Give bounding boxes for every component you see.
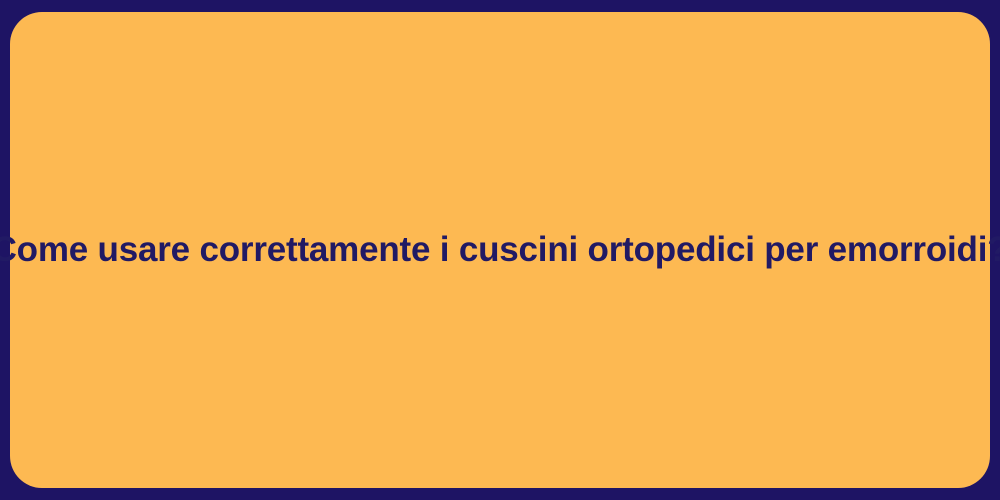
- page-title: Come usare correttamente i cuscini ortop…: [0, 229, 1000, 270]
- headline-card: Come usare correttamente i cuscini ortop…: [10, 12, 990, 488]
- page-background: Come usare correttamente i cuscini ortop…: [0, 0, 1000, 500]
